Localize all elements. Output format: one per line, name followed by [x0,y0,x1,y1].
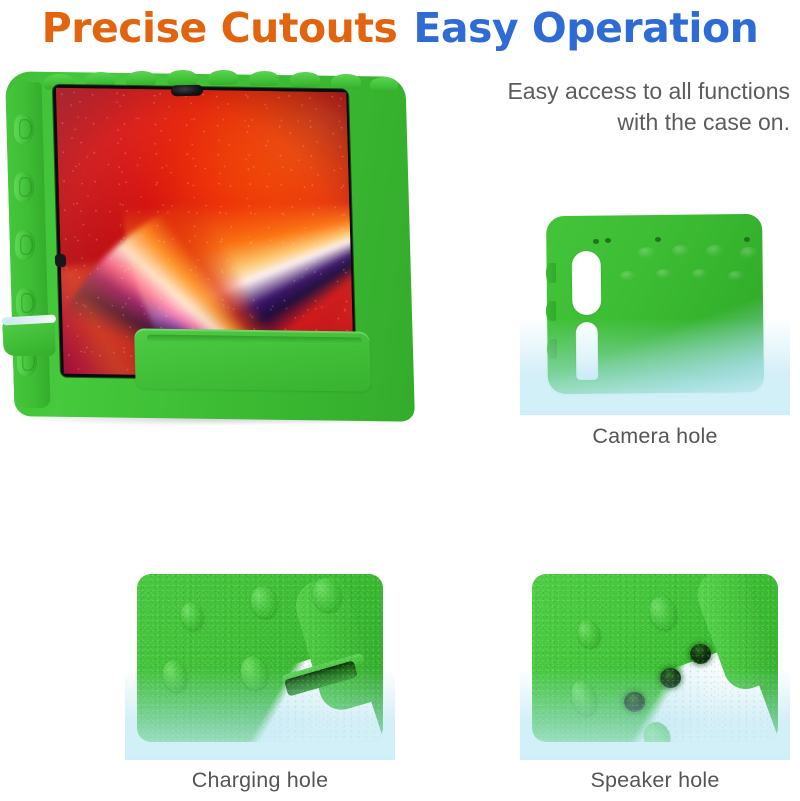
case-top-ridge [208,70,238,86]
charging-hole-photo [125,560,395,760]
case-foam-nub [248,583,281,620]
case-back-bump [638,247,656,259]
case-foam-nub [645,593,680,633]
case-top-hole [655,237,661,242]
subtitle: Easy access to all functions with the ca… [408,76,790,137]
kickstand-leg[interactable] [2,320,56,357]
camera-cutout-small [576,322,599,380]
camera-cutout-large [572,251,602,315]
case-side-lug [14,114,34,144]
case-top-hole [744,237,750,242]
case-side-lug [15,230,35,260]
case-back-lug [546,263,556,283]
camera-hole-photo [520,205,790,415]
case-back-bump [740,247,758,259]
case-top-ridge [249,71,279,87]
subtitle-line-1: Easy access to all functions [507,78,790,104]
caption-charging-hole: Charging hole [125,768,395,793]
case-top-ridge [126,70,157,86]
case-foam-nub [159,658,190,695]
case-back-bump [728,271,744,281]
speaker-hole-photo [520,560,790,760]
case-top-ridge [290,72,320,88]
title-precise-cutouts: Precise Cutouts [42,8,398,49]
power-button[interactable] [55,254,66,267]
case-back-bump [620,271,636,281]
case-foam-nub [574,617,604,650]
speaker-hole [660,668,681,688]
case-back-lug [546,301,556,321]
case-back-bump [692,269,708,279]
page-title: Precise Cutouts Easy Operation [0,0,800,56]
case-top-hole [593,239,599,244]
case-back-bump [672,245,690,257]
case-back-bump [706,245,724,257]
front-camera-icon [171,85,203,97]
title-easy-operation: Easy Operation [413,8,758,49]
speaker-hole [624,692,645,712]
case-side-lug [16,288,36,318]
case-foam-nub [178,600,206,632]
speaker-hole [690,644,711,664]
caption-speaker-hole: Speaker hole [520,768,790,793]
case-top-ridge [331,74,361,89]
case-side-lug [14,172,34,202]
case-back-bump [656,269,672,279]
caption-camera-hole: Camera hole [520,424,790,449]
case-foam-closeup [532,574,778,742]
case-foam-closeup [137,574,383,742]
product-feature-image: Precise Cutouts Easy Operation Easy acce… [0,0,800,801]
subtitle-line-2: with the case on. [408,107,790,138]
case-back-lug [547,339,557,359]
case-top-hole [605,238,611,243]
case-top-ridge [370,77,398,92]
case-top-ridge [167,69,198,85]
case-foam-nub [567,677,601,719]
hero-product-photo [0,62,450,517]
